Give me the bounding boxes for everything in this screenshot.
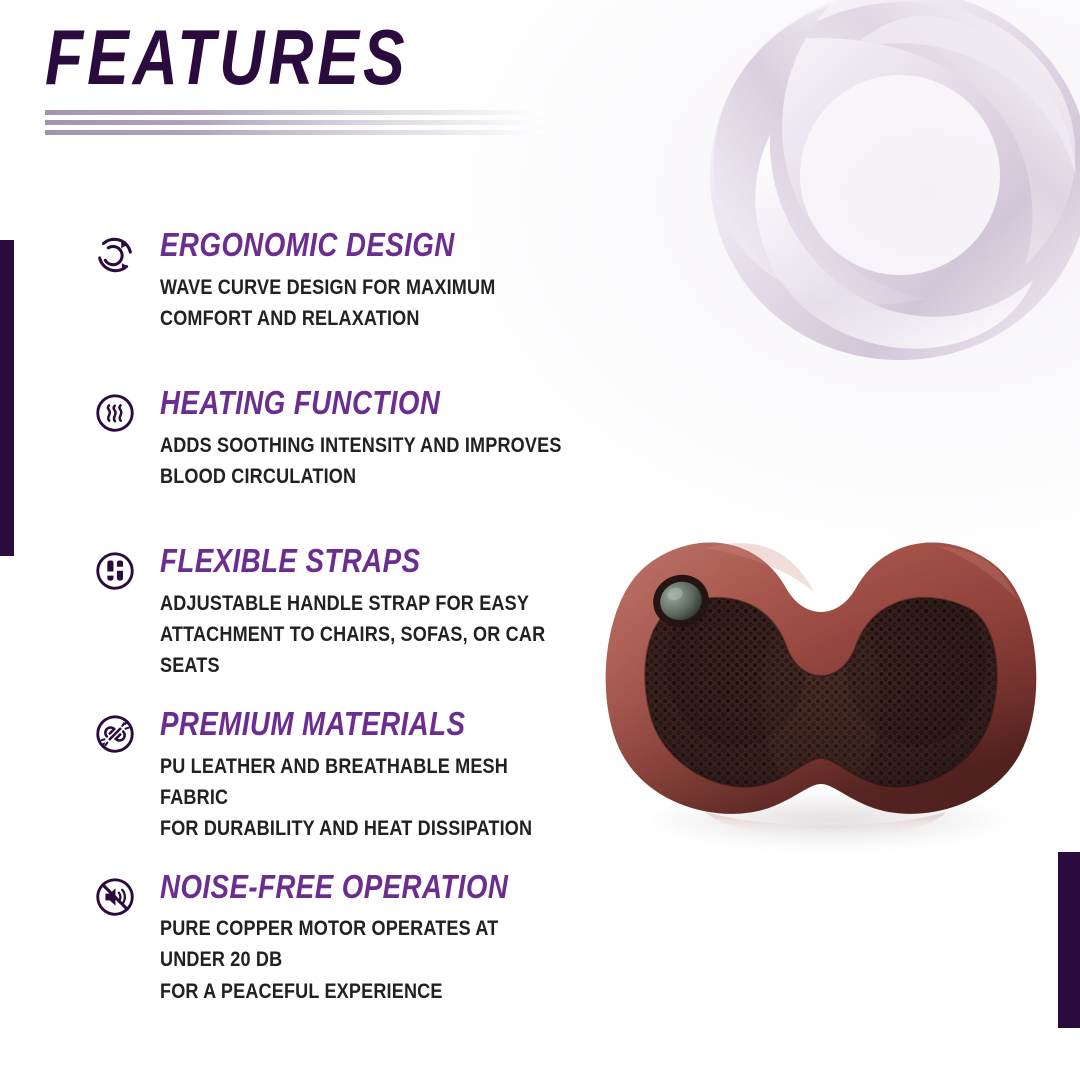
feature-description: ADDS SOOTHING INTENSITY AND IMPROVES BLO… <box>160 430 566 492</box>
rule-line-1 <box>45 110 545 115</box>
feature-text-block: ERGONOMIC DESIGN WAVE CURVE DESIGN FOR M… <box>160 228 632 334</box>
feature-title: ERGONOMIC DESIGN <box>160 228 556 263</box>
no-tear-fabric-icon <box>92 711 138 757</box>
heat-waves-icon <box>92 390 138 436</box>
feature-item-heating-function: HEATING FUNCTION ADDS SOOTHING INTENSITY… <box>92 386 632 518</box>
feature-description: PURE COPPER MOTOR OPERATES AT UNDER 20 D… <box>160 913 566 1006</box>
feature-title: FLEXIBLE STRAPS <box>160 544 556 579</box>
header: FEATURES <box>45 18 665 140</box>
rule-line-2 <box>45 120 545 125</box>
torus-knot-ribbon-icon <box>670 0 1080 420</box>
product-image-massage-pillow <box>586 496 1056 856</box>
right-accent-bar <box>1058 852 1080 1028</box>
feature-title: PREMIUM MATERIALS <box>160 707 556 742</box>
feature-item-premium-materials: PREMIUM MATERIALS PU LEATHER AND BREATHA… <box>92 707 632 844</box>
features-list: ERGONOMIC DESIGN WAVE CURVE DESIGN FOR M… <box>92 228 632 1033</box>
feature-description: ADJUSTABLE HANDLE STRAP FOR EASY ATTACHM… <box>160 588 566 681</box>
title-underline-rules <box>45 110 545 135</box>
feature-text-block: HEATING FUNCTION ADDS SOOTHING INTENSITY… <box>160 386 632 492</box>
feature-text-block: FLEXIBLE STRAPS ADJUSTABLE HANDLE STRAP … <box>160 544 632 681</box>
feature-description: PU LEATHER AND BREATHABLE MESH FABRIC FO… <box>160 751 566 844</box>
infographic-canvas: FEATURES ERGONOMIC <box>0 0 1080 1080</box>
feature-text-block: NOISE-FREE OPERATION PURE COPPER MOTOR O… <box>160 870 632 1007</box>
left-accent-bar <box>0 240 14 556</box>
muted-speaker-icon <box>92 874 138 920</box>
feature-item-noise-free-operation: NOISE-FREE OPERATION PURE COPPER MOTOR O… <box>92 870 632 1007</box>
feature-description: WAVE CURVE DESIGN FOR MAXIMUM COMFORT AN… <box>160 272 566 334</box>
strap-buckle-icon <box>92 548 138 594</box>
rotate-arrows-icon <box>92 232 138 278</box>
rule-line-3 <box>45 130 545 135</box>
feature-item-flexible-straps: FLEXIBLE STRAPS ADJUSTABLE HANDLE STRAP … <box>92 544 632 681</box>
feature-title: HEATING FUNCTION <box>160 386 556 421</box>
feature-text-block: PREMIUM MATERIALS PU LEATHER AND BREATHA… <box>160 707 632 844</box>
feature-title: NOISE-FREE OPERATION <box>160 870 556 905</box>
page-title: FEATURES <box>45 18 541 96</box>
feature-item-ergonomic-design: ERGONOMIC DESIGN WAVE CURVE DESIGN FOR M… <box>92 228 632 360</box>
